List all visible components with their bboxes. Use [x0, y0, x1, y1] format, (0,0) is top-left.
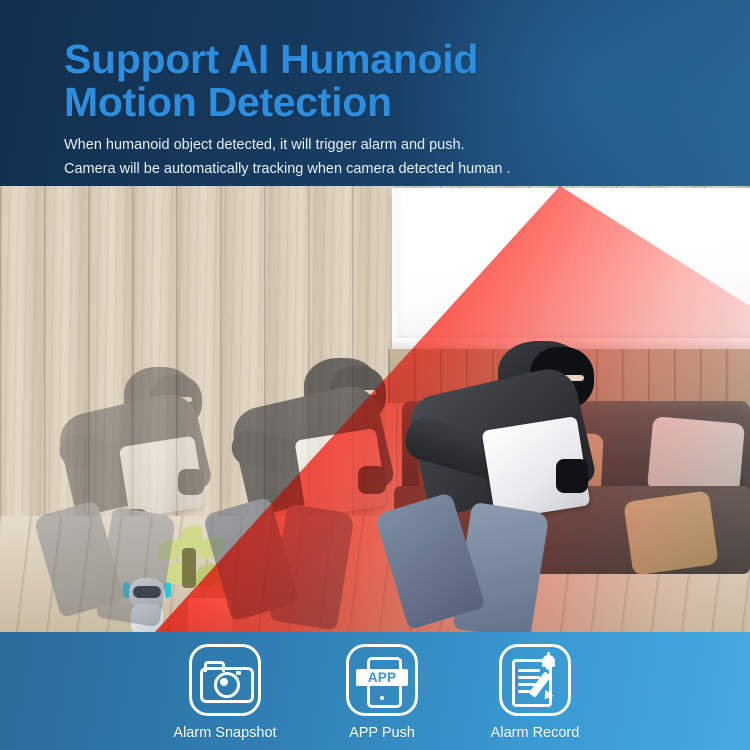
feature-alarm-snapshot[interactable]: Alarm Snapshot — [158, 644, 292, 741]
subtitle-line-1: When humanoid object detected, it will t… — [64, 133, 724, 157]
document-line — [518, 669, 540, 672]
subtitle: When humanoid object detected, it will t… — [64, 133, 724, 181]
document-line — [518, 676, 540, 679]
footer-feature-bar: Alarm Snapshot APP APP Push — [0, 632, 750, 750]
feature-alarm-record[interactable]: Alarm Record — [470, 644, 600, 741]
subtitle-line-2: Camera will be automatically tracking wh… — [64, 157, 724, 181]
app-push-icon[interactable]: APP — [346, 644, 418, 716]
intruder-figure — [388, 341, 688, 626]
scene-photo — [0, 186, 750, 632]
camera-icon[interactable] — [189, 644, 261, 716]
feature-app-push[interactable]: APP APP Push — [318, 644, 446, 741]
app-badge-label: APP — [356, 669, 408, 686]
feature-label: Alarm Record — [470, 725, 600, 741]
camera-lens-center — [220, 678, 228, 686]
title-line-2: Motion Detection — [64, 81, 704, 124]
camera-lens-ring — [214, 672, 240, 698]
phone-home-button — [380, 696, 384, 700]
promo-banner: Support AI Humanoid Motion Detection Whe… — [0, 0, 750, 750]
feature-label: Alarm Snapshot — [158, 725, 292, 741]
feature-label: APP Push — [318, 725, 446, 741]
page-title: Support AI Humanoid Motion Detection — [64, 38, 704, 124]
alarm-record-icon[interactable] — [499, 644, 571, 716]
title-line-1: Support AI Humanoid — [64, 36, 478, 82]
camera-flash — [236, 671, 241, 675]
header-section: Support AI Humanoid Motion Detection Whe… — [0, 0, 750, 186]
